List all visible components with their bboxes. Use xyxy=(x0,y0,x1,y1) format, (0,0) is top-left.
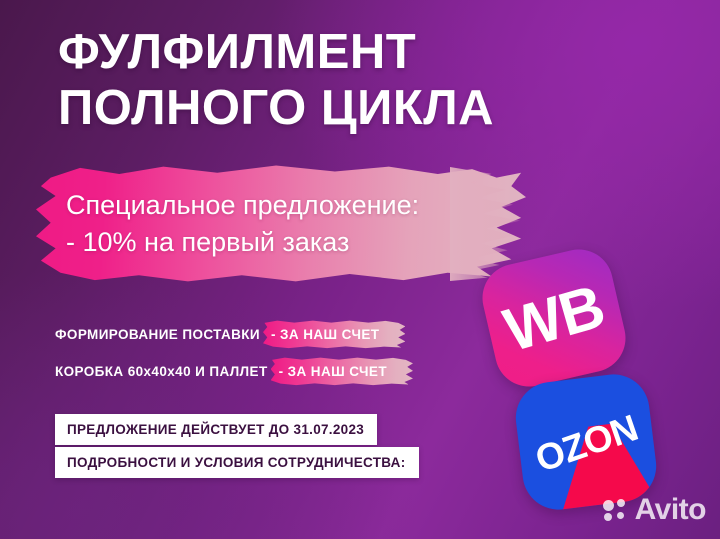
feature-highlight: - ЗА НАШ СЧЕТ xyxy=(273,360,403,383)
feature-row: ФОРМИРОВАНИЕ ПОСТАВКИ - ЗА НАШ СЧЕТ xyxy=(55,316,403,353)
cooperation-details-box: ПОДРОБНОСТИ И УСЛОВИЯ СОТРУДНИЧЕСТВА: xyxy=(55,447,419,478)
offer-validity-box: ПРЕДЛОЖЕНИЕ ДЕЙСТВУЕТ ДО 31.07.2023 xyxy=(55,414,377,445)
avito-dots-icon xyxy=(603,499,628,521)
avito-brand-label: Avito xyxy=(635,493,706,527)
avito-watermark: Avito xyxy=(603,493,706,527)
offer-line-2: - 10% на первый заказ xyxy=(66,224,419,261)
feature-label: КОРОБКА 60x40x40 И ПАЛЛЕТ xyxy=(55,364,268,379)
headline-line-2: ПОЛНОГО ЦИКЛА xyxy=(58,84,678,134)
feature-row: КОРОБКА 60x40x40 И ПАЛЛЕТ - ЗА НАШ СЧЕТ xyxy=(55,353,403,390)
feature-list: ФОРМИРОВАНИЕ ПОСТАВКИ - ЗА НАШ СЧЕТ КОРО… xyxy=(55,316,403,390)
promo-banner: ФУЛФИЛМЕНТ ПОЛНОГО ЦИКЛА Специальное пре… xyxy=(0,0,720,539)
feature-highlight: - ЗА НАШ СЧЕТ xyxy=(265,323,395,346)
feature-label: ФОРМИРОВАНИЕ ПОСТАВКИ xyxy=(55,327,260,342)
page-title: ФУЛФИЛМЕНТ ПОЛНОГО ЦИКЛА xyxy=(58,28,678,134)
offer-line-1: Специальное предложение: xyxy=(66,187,419,224)
special-offer-block: Специальное предложение: - 10% на первый… xyxy=(36,163,526,285)
headline-line-1: ФУЛФИЛМЕНТ xyxy=(58,28,678,78)
offer-text: Специальное предложение: - 10% на первый… xyxy=(66,187,419,262)
